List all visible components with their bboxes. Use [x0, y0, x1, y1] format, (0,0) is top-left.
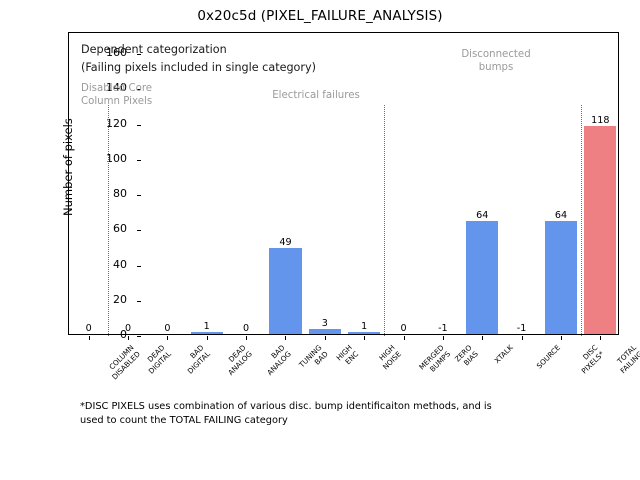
- footnote-text: *DISC PIXELS uses combination of various…: [80, 400, 580, 428]
- x-tick-label: BADDIGITAL: [180, 343, 213, 376]
- y-tick-mark: [137, 266, 141, 267]
- y-tick-mark: [137, 160, 141, 161]
- x-tick-mark: [561, 336, 562, 340]
- x-tick-label: DEADANALOG: [220, 343, 254, 377]
- bar-value-label: 118: [581, 115, 620, 126]
- bar-value-label: 0: [384, 323, 423, 334]
- bar-value-label: -1: [502, 323, 541, 334]
- x-tick-mark: [89, 336, 90, 340]
- bar-value-label: 64: [541, 210, 580, 221]
- bar-value-label: 0: [108, 323, 147, 334]
- x-tick-label: XTALK: [493, 343, 515, 365]
- annotation-text: Electrical failures: [221, 89, 411, 102]
- x-tick-label: SOURCE: [534, 343, 562, 371]
- bar-value-label: 64: [463, 210, 502, 221]
- group-separator: [384, 105, 385, 336]
- x-tick-mark: [128, 336, 129, 340]
- x-tick-label: DEADDIGITAL: [140, 343, 173, 376]
- y-tick-mark: [137, 301, 141, 302]
- bar-value-label: 49: [266, 237, 305, 248]
- x-tick-mark: [600, 336, 601, 340]
- y-tick-label: 60: [113, 222, 127, 235]
- bar-value-label: 1: [187, 321, 226, 332]
- x-tick-mark: [167, 336, 168, 340]
- bar-value-label: 0: [148, 323, 187, 334]
- x-tick-mark: [207, 336, 208, 340]
- x-tick-label: TOTALFAILING: [612, 343, 640, 376]
- y-axis-label: Number of pixels: [61, 16, 75, 216]
- x-tick-mark: [522, 336, 523, 340]
- bar-value-label: 0: [69, 323, 108, 334]
- bar-value-label: -1: [423, 323, 462, 334]
- y-tick-label: 20: [113, 293, 127, 306]
- bar: [584, 126, 616, 334]
- group-separator: [108, 105, 109, 336]
- bar: [191, 332, 223, 334]
- y-tick-mark: [137, 230, 141, 231]
- x-tick-label: HIGHNOISE: [375, 343, 404, 372]
- x-tick-mark: [246, 336, 247, 340]
- x-tick-label: BADANALOG: [259, 343, 293, 377]
- x-tick-mark: [285, 336, 286, 340]
- x-tick-label: TUNINGBAD: [298, 343, 331, 376]
- plot-area: Number of pixels 020406080100120140160 C…: [68, 32, 619, 335]
- x-tick-label: COLUMNDISABLED: [103, 343, 142, 382]
- bar: [309, 329, 341, 334]
- x-tick-mark: [404, 336, 405, 340]
- y-tick-mark: [137, 125, 141, 126]
- bar-value-label: 0: [226, 323, 265, 334]
- annotation-text: Dependent categorization: [81, 43, 401, 58]
- annotation-text: Disabled Core Column Pixels: [81, 82, 211, 109]
- x-tick-label: ZEROBIAS: [453, 343, 480, 370]
- bar-value-label: 3: [305, 318, 344, 329]
- x-tick-mark: [443, 336, 444, 340]
- x-tick-label: MERGEDBUMPS: [417, 343, 452, 378]
- x-tick-mark: [482, 336, 483, 340]
- y-tick-label: 80: [113, 187, 127, 200]
- y-tick-label: 40: [113, 258, 127, 271]
- annotation-text: Disconnected bumps: [421, 48, 571, 75]
- annotation-text: (Failing pixels included in single categ…: [81, 61, 441, 76]
- figure-canvas: 0x20c5d (PIXEL_FAILURE_ANALYSIS) Number …: [0, 0, 640, 480]
- bar: [348, 332, 380, 334]
- x-tick-label: DISCPIXELS*: [573, 343, 606, 376]
- y-tick-mark: [137, 336, 141, 337]
- x-tick-mark: [325, 336, 326, 340]
- x-tick-mark: [364, 336, 365, 340]
- x-tick-label: HIGHENC: [334, 343, 360, 369]
- bar: [269, 248, 301, 334]
- bar: [466, 221, 498, 334]
- y-tick-mark: [137, 195, 141, 196]
- bar: [545, 221, 577, 334]
- group-separator: [581, 105, 582, 336]
- page-title: 0x20c5d (PIXEL_FAILURE_ANALYSIS): [0, 8, 640, 24]
- bar-value-label: 1: [345, 321, 384, 332]
